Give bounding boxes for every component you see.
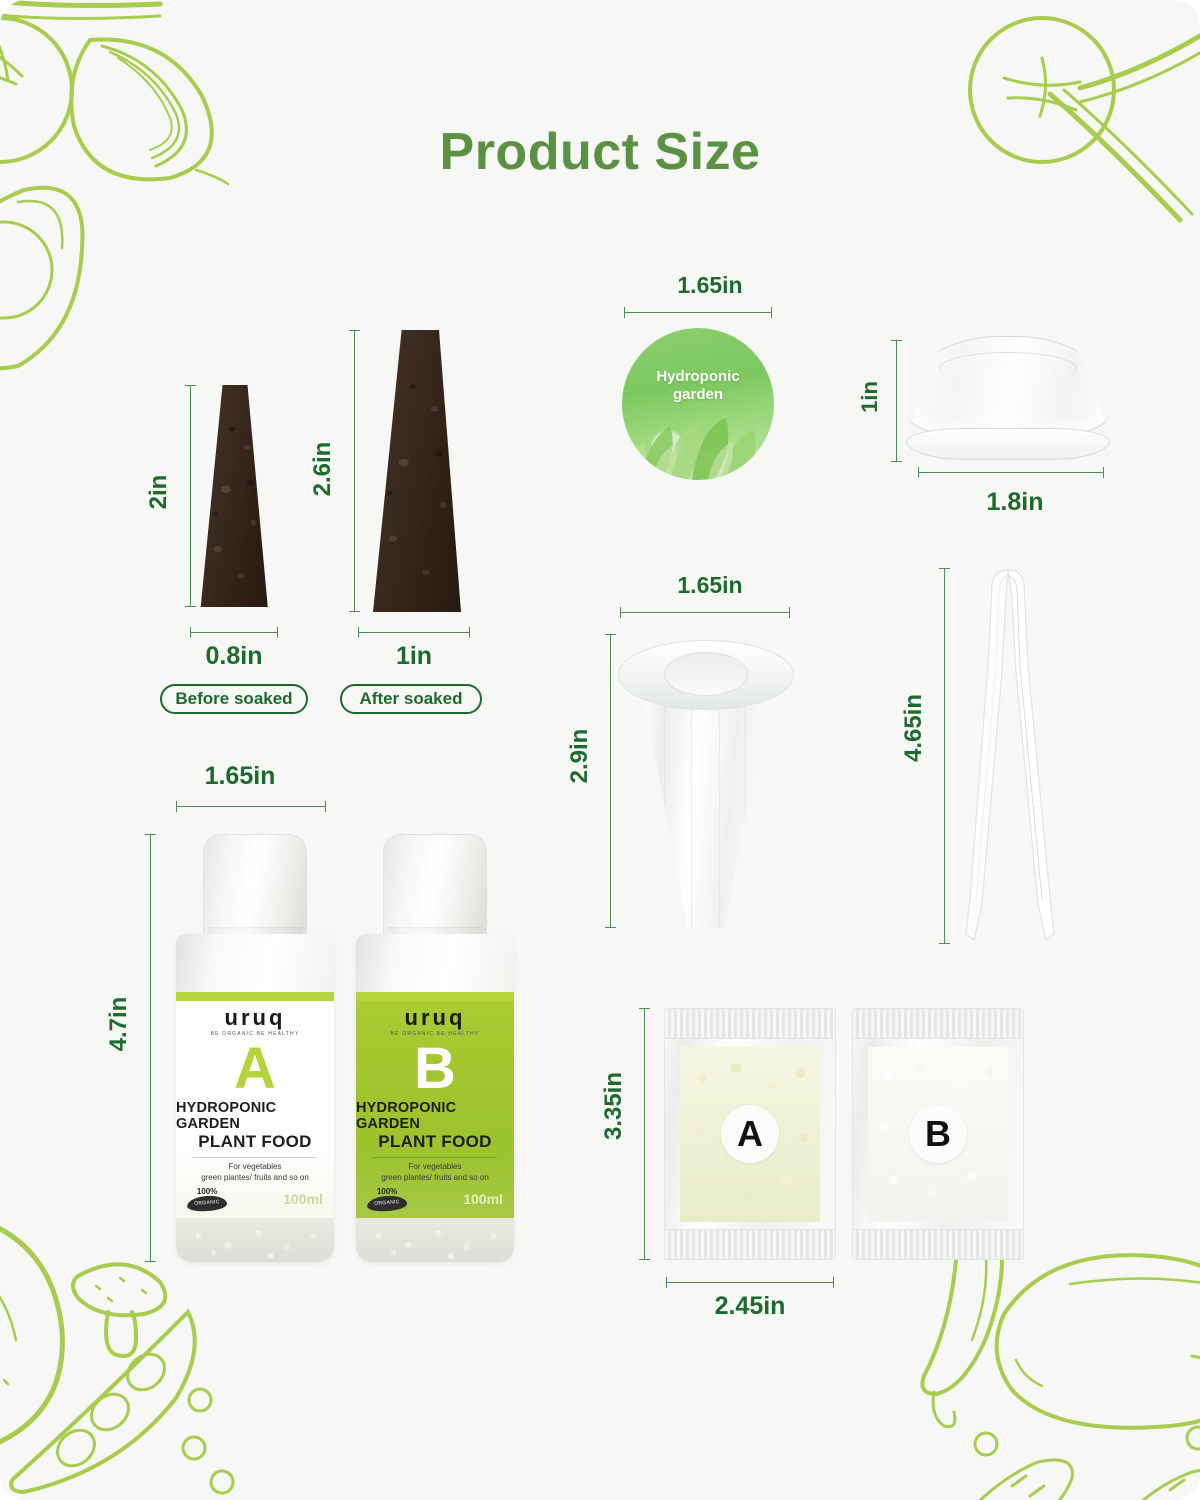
sachet-crimp-bottom [665,1229,835,1259]
organic-stamp-icon: 100% ORGANIC [187,1188,227,1211]
pea-dot-icon [975,1433,997,1455]
dome-width-line [918,472,1104,473]
bottle-a-fine2: green plantes/ fruits and so on [201,1173,309,1184]
sachet-b-letter: B [909,1105,967,1163]
dome-height-label: 1in [857,367,883,427]
sachet-width-label: 2.45in [660,1292,840,1321]
basket-width-line [620,612,790,613]
bottle-b-volume: 100ml [463,1191,503,1207]
mushroom-icon [73,1264,165,1356]
sponge-before-height-line [190,385,191,607]
bottle-b-letter: B [414,1041,456,1096]
bottle-height-line [150,834,151,1262]
mushroom-pea-group [0,1220,290,1500]
bottle-b-line2: PLANT FOOD [378,1132,492,1152]
sachet-height-label: 3.35in [600,1068,628,1144]
bottle-a-letter: A [234,1041,276,1096]
bottle-a-line2: PLANT FOOD [198,1132,312,1152]
bottle-b-fine1: For vegetables [409,1162,462,1173]
badge-before-soaked: Before soaked [160,684,308,714]
stamp-text: ORGANIC [187,1194,228,1212]
tweezers-icon [958,568,1068,944]
dome-lid-rim [906,428,1110,460]
sachet-b: B [852,1008,1024,1260]
bottle-b-body: uruq BE ORGANIC BE HEALTHY B HYDROPONIC … [356,934,514,1262]
hydroponic-garden-sticker: Hydroponic garden [622,328,774,480]
bottle-a-body: uruq BE ORGANIC BE HEALTHY A HYDROPONIC … [176,934,334,1262]
bottle-width-line [176,806,326,807]
dome-width-label: 1.8in [940,488,1090,517]
product-size-infographic: Product Size 2in 0.8in Before soaked 2.6… [0,0,1200,1500]
sticker-text: Hydroponic garden [622,368,774,406]
sachet-crimp-bottom [853,1229,1023,1259]
chili-eggplant-asparagus-group [920,1230,1200,1500]
sponge-before-width-label: 0.8in [174,642,294,671]
sponge-after-width-line [358,632,470,633]
bottle-b-fine2: green plantes/ fruits and so on [381,1173,489,1184]
organic-stamp-icon: 100% ORGANIC [367,1188,407,1211]
label-divider [193,1157,316,1158]
dome-height-line [896,340,897,462]
sticker-width-label: 1.65in [600,272,820,299]
stamp-percent: 100% [377,1188,397,1196]
sponge-after-height-line [354,330,355,612]
bottle-a-fine1: For vegetables [229,1162,282,1173]
pea-pod-icon [11,1312,233,1493]
sachet-width-line [666,1282,834,1283]
sponge-before-height-label: 2in [145,462,173,522]
label-divider [373,1157,496,1158]
grow-basket [618,634,794,928]
sponge-after-height-label: 2.6in [309,434,337,504]
basket-height-line [610,634,611,928]
sachet-crimp-top [853,1009,1023,1039]
label-stripe-top [176,992,334,1001]
tweezers-height-label: 4.65in [900,690,928,766]
sponge-before-soaked [196,385,274,607]
sponge-after-width-label: 1in [354,642,474,671]
brand-logo: uruq [225,1007,286,1029]
label-stripe-top [356,992,514,1001]
cabbage-icon [0,1220,62,1452]
basket-opening [664,652,748,696]
basket-cone [641,681,771,928]
bottle-width-label: 1.65in [140,762,340,791]
bottle-b-granules [356,1218,514,1262]
badge-after-soaked: After soaked [340,684,482,714]
bottle-a-granules [176,1218,334,1262]
asparagus-icon [954,1460,1200,1500]
stamp-percent: 100% [197,1188,217,1196]
basket-height-label: 2.9in [566,722,594,790]
bottle-b-label: uruq BE ORGANIC BE HEALTHY B HYDROPONIC … [356,992,514,1240]
dome-lid [906,336,1110,460]
pea-dot-icon [1187,1427,1200,1449]
bottle-a-volume: 100ml [283,1191,323,1207]
tweezers-height-line [944,568,945,944]
bottle-b: uruq BE ORGANIC BE HEALTHY B HYDROPONIC … [356,834,514,1262]
sponge-after-soaked [362,330,472,612]
page-title: Product Size [0,122,1200,182]
basket-width-label: 1.65in [600,572,820,599]
bottle-a: uruq BE ORGANIC BE HEALTHY A HYDROPONIC … [176,834,334,1262]
sachet-a: A [664,1008,836,1260]
sachet-crimp-top [665,1009,835,1039]
stamp-text: ORGANIC [367,1194,408,1212]
bottle-a-label: uruq BE ORGANIC BE HEALTHY A HYDROPONIC … [176,992,334,1240]
bottle-a-cap [203,834,307,946]
sticker-line2: garden [673,386,723,403]
tweezers [958,568,1068,944]
sponge-before-width-line [190,632,278,633]
eggplant-icon [997,1255,1200,1428]
tomato-onion-avocado-group [0,0,260,380]
bottle-b-cap [383,834,487,946]
bottle-a-line1: HYDROPONIC GARDEN [176,1100,334,1132]
sticker-line1: Hydroponic [656,368,739,385]
avocado-icon [0,188,83,369]
sachet-height-line [644,1008,645,1260]
sticker-width-line [624,312,772,313]
brand-logo: uruq [405,1007,466,1029]
bottle-height-label: 4.7in [105,987,133,1061]
dome-lid-glass [906,336,1110,433]
bottle-b-line1: HYDROPONIC GARDEN [356,1100,514,1132]
sachet-a-letter: A [721,1105,779,1163]
